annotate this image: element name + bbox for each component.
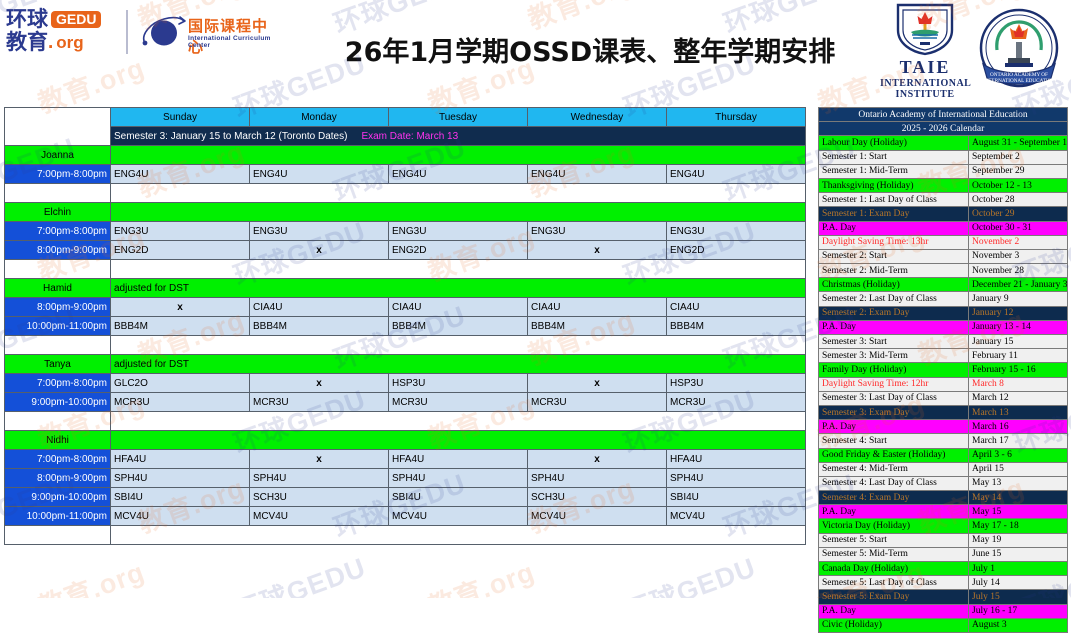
calendar-event-name: Daylight Saving Time: 12hr [819,377,969,391]
calendar-title: Ontario Academy of International Educati… [819,108,1068,122]
teacher-note-tanya: adjusted for DST [111,355,806,374]
calendar-event-date: May 17 - 18 [969,519,1068,533]
teacher-name-hamid: Hamid [5,279,111,298]
calendar-row: Semester 4: StartMarch 17 [819,434,1068,448]
calendar-event-name: Semester 4: Exam Day [819,491,969,505]
time-slot-label: 8:00pm-9:00pm [5,298,111,317]
calendar-event-name: Semester 4: Start [819,434,969,448]
calendar-event-name: Christmas (Holiday) [819,278,969,292]
calendar-row: Semester 4: Exam DayMay 14 [819,491,1068,505]
calendar-event-name: Semester 1: Last Day of Class [819,193,969,207]
time-slot-label: 7:00pm-8:00pm [5,374,111,393]
logo-divider [126,10,128,54]
calendar-row: P.A. DayOctober 30 - 31 [819,221,1068,235]
calendar-event-date: July 1 [969,562,1068,576]
taie-crest: TAIE INTERNATIONAL INSTITUTE [880,2,970,94]
course-cell[interactable]: SBI4U [667,488,806,507]
calendar-event-date: July 16 - 17 [969,604,1068,618]
taie-line2: INTERNATIONAL [880,78,970,89]
class-row: 7:00pm-8:00pmGLC2OxHSP3UxHSP3U [5,374,806,393]
course-cell[interactable]: GLC2O [111,374,250,393]
class-row: 8:00pm-9:00pmxCIA4UCIA4UCIA4UCIA4U [5,298,806,317]
calendar-row: Semester 2: Last Day of ClassJanuary 9 [819,292,1068,306]
calendar-row: Semester 5: Mid-TermJune 15 [819,547,1068,561]
calendar-event-date: January 9 [969,292,1068,306]
calendar-row: Daylight Saving Time: 13hrNovember 2 [819,235,1068,249]
teacher-row-joanna: Joanna [5,146,806,165]
calendar-row: Semester 4: Mid-TermApril 15 [819,462,1068,476]
calendar-event-date: November 2 [969,235,1068,249]
schedule-header-row: SundayMondayTuesdayWednesdayThursday [5,108,806,127]
calendar-event-name: Canada Day (Holiday) [819,562,969,576]
course-cell[interactable]: ENG2D [389,241,528,260]
course-cell[interactable]: SPH4U [389,469,528,488]
course-cell[interactable]: ENG3U [250,222,389,241]
gedu-logo-badge: GEDU [51,11,101,28]
course-cell[interactable]: HFA4U [111,450,250,469]
calendar-event-name: Semester 1: Exam Day [819,207,969,221]
calendar-event-date: May 19 [969,533,1068,547]
calendar-row: Civic (Holiday)August 3 [819,618,1068,632]
calendar-event-name: Good Friday & Easter (Holiday) [819,448,969,462]
calendar-event-name: P.A. Day [819,505,969,519]
calendar-event-name: P.A. Day [819,221,969,235]
course-cell[interactable]: SPH4U [667,469,806,488]
spacer-cell [111,260,806,279]
calendar-event-date: October 29 [969,207,1068,221]
teacher-note-elchin [111,203,806,222]
calendar-event-name: P.A. Day [819,320,969,334]
calendar-row: Semester 1: StartSeptember 2 [819,150,1068,164]
no-class-cell[interactable]: x [528,374,667,393]
time-slot-label: 7:00pm-8:00pm [5,165,111,184]
teacher-name-nidhi: Nidhi [5,431,111,450]
gedu-logo-top-row: 环球 GEDU [6,8,118,31]
class-row: 10:00pm-11:00pmBBB4MBBB4MBBB4MBBB4MBBB4M [5,317,806,336]
section-spacer [5,412,806,431]
calendar-event-name: Semester 5: Exam Day [819,590,969,604]
spacer-cell [111,184,806,203]
calendar-event-date: January 15 [969,335,1068,349]
calendar-event-date: May 14 [969,491,1068,505]
course-cell[interactable]: SBI4U [111,488,250,507]
calendar-title-row: Ontario Academy of International Educati… [819,108,1068,122]
teacher-row-nidhi: Nidhi [5,431,806,450]
spacer-cell [5,526,111,545]
calendar-event-name: Semester 1: Start [819,150,969,164]
calendar-row: P.A. DayJuly 16 - 17 [819,604,1068,618]
calendar-event-name: Labour Day (Holiday) [819,136,969,150]
time-slot-label: 10:00pm-11:00pm [5,317,111,336]
course-cell[interactable]: MCV4U [389,507,528,526]
calendar-row: Semester 3: Mid-TermFebruary 11 [819,349,1068,363]
calendar-subtitle: 2025 - 2026 Calendar [819,122,1068,136]
course-cell[interactable]: SCH3U [250,488,389,507]
calendar-row: Thanksgiving (Holiday)October 12 - 13 [819,178,1068,192]
planet-icon [140,15,188,49]
spacer-cell [111,336,806,355]
spacer-cell [111,412,806,431]
course-cell[interactable]: BBB4M [111,317,250,336]
calendar-row: Semester 2: Exam DayJanuary 12 [819,306,1068,320]
spacer-cell [5,412,111,431]
course-cell[interactable]: SPH4U [111,469,250,488]
course-cell[interactable]: HFA4U [389,450,528,469]
no-class-cell[interactable]: x [250,241,389,260]
class-row: 7:00pm-8:00pmHFA4UxHFA4UxHFA4U [5,450,806,469]
calendar-event-name: Semester 5: Start [819,533,969,547]
calendar-event-date: May 15 [969,505,1068,519]
calendar-event-name: Daylight Saving Time: 13hr [819,235,969,249]
calendar-event-name: Semester 3: Mid-Term [819,349,969,363]
time-slot-label: 9:00pm-10:00pm [5,488,111,507]
section-spacer [5,336,806,355]
course-cell[interactable]: HSP3U [667,374,806,393]
calendar-subtitle-row: 2025 - 2026 Calendar [819,122,1068,136]
calendar-row: Semester 3: Last Day of ClassMarch 12 [819,391,1068,405]
time-slot-label: 9:00pm-10:00pm [5,393,111,412]
calendar-event-date: August 31 - September 1 [969,136,1068,150]
calendar-event-name: Thanksgiving (Holiday) [819,178,969,192]
watermark-text: 教育.org [32,550,150,598]
course-cell[interactable]: MCR3U [528,393,667,412]
svg-text:INTERNATIONAL EDUCATION: INTERNATIONAL EDUCATION [983,78,1056,84]
course-cell[interactable]: HFA4U [667,450,806,469]
course-cell[interactable]: ENG2D [667,241,806,260]
semester-banner-main: Semester 3: January 15 to March 12 (Toro… [114,131,347,142]
calendar-event-name: Semester 2: Start [819,249,969,263]
gedu-logo-dot: . [48,32,53,54]
watermark-text: 环球GEDU [227,546,370,598]
calendar-event-name: Semester 4: Last Day of Class [819,476,969,490]
calendar-event-date: December 21 - January 3 [969,278,1068,292]
calendar-row: Semester 3: StartJanuary 15 [819,335,1068,349]
course-cell[interactable]: BBB4M [528,317,667,336]
calendar-event-date: September 29 [969,164,1068,178]
watermark-text: 教育.org [422,550,540,598]
page-title: 26年1月学期OSSD课表、整年学期安排 [330,30,850,69]
course-cell[interactable]: MCR3U [250,393,389,412]
day-header-thursday: Thursday [667,108,806,127]
course-cell[interactable]: ENG3U [667,222,806,241]
academic-calendar-table: Ontario Academy of International Educati… [818,107,1068,633]
course-cell[interactable]: SPH4U [250,469,389,488]
calendar-row: Good Friday & Easter (Holiday)April 3 - … [819,448,1068,462]
page-header: 环球 GEDU 教育 . org 国际课程中心 International Cu… [0,0,1071,100]
calendar-row: Semester 2: Mid-TermNovember 28 [819,264,1068,278]
semester-exam-date: Exam Date: March 13 [361,131,458,142]
day-header-tuesday: Tuesday [389,108,528,127]
calendar-event-date: November 3 [969,249,1068,263]
calendar-event-date: April 15 [969,462,1068,476]
calendar-event-name: Semester 3: Start [819,335,969,349]
course-cell[interactable]: MCR3U [111,393,250,412]
calendar-event-date: November 28 [969,264,1068,278]
calendar-event-name: Victoria Day (Holiday) [819,519,969,533]
calendar-event-date: March 17 [969,434,1068,448]
gedu-logo-cn-bottom: 教育 [6,31,48,54]
course-cell[interactable]: SBI4U [389,488,528,507]
no-class-cell[interactable]: x [250,374,389,393]
time-slot-label: 8:00pm-9:00pm [5,469,111,488]
course-cell[interactable]: CIA4U [667,298,806,317]
calendar-event-name: Semester 2: Exam Day [819,306,969,320]
calendar-event-date: March 12 [969,391,1068,405]
taie-shield-icon [894,2,956,56]
section-spacer [5,526,806,545]
course-cell[interactable]: MCR3U [667,393,806,412]
course-cell[interactable]: CIA4U [250,298,389,317]
no-class-cell[interactable]: x [250,450,389,469]
teacher-name-elchin: Elchin [5,203,111,222]
course-cell[interactable]: BBB4M [389,317,528,336]
calendar-event-date: October 30 - 31 [969,221,1068,235]
course-cell[interactable]: ENG3U [528,222,667,241]
calendar-row: Canada Day (Holiday)July 1 [819,562,1068,576]
calendar-event-name: Civic (Holiday) [819,618,969,632]
calendar-row: Semester 5: Last Day of ClassJuly 14 [819,576,1068,590]
calendar-row: Semester 1: Mid-TermSeptember 29 [819,164,1068,178]
calendar-event-date: July 15 [969,590,1068,604]
calendar-event-date: February 11 [969,349,1068,363]
course-cell[interactable]: ENG4U [389,165,528,184]
taie-name: TAIE [880,57,970,78]
teacher-row-tanya: Tanyaadjusted for DST [5,355,806,374]
no-class-cell[interactable]: x [111,298,250,317]
teacher-row-hamid: Hamidadjusted for DST [5,279,806,298]
calendar-event-name: Semester 4: Mid-Term [819,462,969,476]
course-cell[interactable]: HSP3U [389,374,528,393]
teacher-note-hamid: adjusted for DST [111,279,806,298]
schedule-table: SundayMondayTuesdayWednesdayThursdaySeme… [4,107,806,545]
calendar-event-date: January 12 [969,306,1068,320]
icc-logo: 国际课程中心 International Curriculum Center [140,12,280,56]
class-row: 9:00pm-10:00pmMCR3UMCR3UMCR3UMCR3UMCR3U [5,393,806,412]
class-row: 7:00pm-8:00pmENG3UENG3UENG3UENG3UENG3U [5,222,806,241]
taie-line3: INSTITUTE [880,89,970,100]
calendar-event-date: January 13 - 14 [969,320,1068,334]
course-cell[interactable]: MCV4U [250,507,389,526]
teacher-name-joanna: Joanna [5,146,111,165]
course-cell[interactable]: BBB4M [250,317,389,336]
section-spacer [5,260,806,279]
calendar-event-date: May 13 [969,476,1068,490]
calendar-row: Semester 5: StartMay 19 [819,533,1068,547]
course-cell[interactable]: SCH3U [528,488,667,507]
course-cell[interactable]: ENG4U [111,165,250,184]
spacer-cell [111,526,806,545]
time-slot-label: 7:00pm-8:00pm [5,450,111,469]
calendar-event-date: October 12 - 13 [969,178,1068,192]
course-cell[interactable]: ENG4U [528,165,667,184]
calendar-row: Semester 1: Last Day of ClassOctober 28 [819,193,1068,207]
calendar-row: Semester 3: Exam DayMarch 13 [819,405,1068,419]
no-class-cell[interactable]: x [528,241,667,260]
day-header-monday: Monday [250,108,389,127]
spacer-cell [5,184,111,203]
class-row: 7:00pm-8:00pmENG4UENG4UENG4UENG4UENG4U [5,165,806,184]
calendar-row: P.A. DayMay 15 [819,505,1068,519]
course-cell[interactable]: BBB4M [667,317,806,336]
day-header-wednesday: Wednesday [528,108,667,127]
spacer-cell [5,260,111,279]
course-cell[interactable]: ENG4U [667,165,806,184]
calendar-row: Semester 1: Exam DayOctober 29 [819,207,1068,221]
gedu-logo-bottom-row: 教育 . org [6,31,118,54]
course-cell[interactable]: MCV4U [111,507,250,526]
calendar-event-date: September 2 [969,150,1068,164]
time-slot-label: 7:00pm-8:00pm [5,222,111,241]
calendar-row: Semester 2: StartNovember 3 [819,249,1068,263]
course-cell[interactable]: CIA4U [528,298,667,317]
calendar-row: Christmas (Holiday)December 21 - January… [819,278,1068,292]
day-header-sunday: Sunday [111,108,250,127]
course-cell[interactable]: CIA4U [389,298,528,317]
course-cell[interactable]: MCR3U [389,393,528,412]
calendar-event-date: March 8 [969,377,1068,391]
teacher-note-nidhi [111,431,806,450]
time-slot-label: 8:00pm-9:00pm [5,241,111,260]
calendar-event-name: P.A. Day [819,604,969,618]
calendar-event-name: Semester 3: Last Day of Class [819,391,969,405]
course-cell[interactable]: MCV4U [528,507,667,526]
calendar-event-date: June 15 [969,547,1068,561]
calendar-row: P.A. DayMarch 16 [819,420,1068,434]
calendar-event-name: Semester 2: Mid-Term [819,264,969,278]
spacer-cell [5,336,111,355]
calendar-row: P.A. DayJanuary 13 - 14 [819,320,1068,334]
course-cell[interactable]: ENG3U [389,222,528,241]
semester-banner-row: Semester 3: January 15 to March 12 (Toro… [5,127,806,146]
calendar-event-name: Semester 5: Last Day of Class [819,576,969,590]
class-row: 10:00pm-11:00pmMCV4UMCV4UMCV4UMCV4UMCV4U [5,507,806,526]
calendar-event-date: August 3 [969,618,1068,632]
course-cell[interactable]: ENG3U [111,222,250,241]
calendar-event-date: March 16 [969,420,1068,434]
gedu-logo: 环球 GEDU 教育 . org [6,8,118,58]
calendar-event-name: P.A. Day [819,420,969,434]
class-row: 9:00pm-10:00pmSBI4USCH3USBI4USCH3USBI4U [5,488,806,507]
calendar-event-date: March 13 [969,405,1068,419]
gedu-logo-cn-top: 环球 [6,8,48,31]
calendar-event-name: Semester 3: Exam Day [819,405,969,419]
class-row: 8:00pm-9:00pmENG2DxENG2DxENG2D [5,241,806,260]
course-cell[interactable]: MCV4U [667,507,806,526]
calendar-row: Family Day (Holiday)February 15 - 16 [819,363,1068,377]
teacher-name-tanya: Tanya [5,355,111,374]
icc-logo-en: International Curriculum Center [188,35,280,49]
calendar-event-date: July 14 [969,576,1068,590]
course-cell[interactable]: ENG4U [250,165,389,184]
time-slot-label: 10:00pm-11:00pm [5,507,111,526]
calendar-row: Victoria Day (Holiday)May 17 - 18 [819,519,1068,533]
no-class-cell[interactable]: x [528,450,667,469]
calendar-event-name: Semester 2: Last Day of Class [819,292,969,306]
course-cell[interactable]: ENG2D [111,241,250,260]
calendar-event-name: Family Day (Holiday) [819,363,969,377]
teacher-note-joanna [111,146,806,165]
calendar-event-date: February 15 - 16 [969,363,1068,377]
calendar-event-date: April 3 - 6 [969,448,1068,462]
watermark-text: 环球GEDU [617,546,760,598]
course-cell[interactable]: SPH4U [528,469,667,488]
oaie-crest: ONTARIO ACADEMY OF INTERNATIONAL EDUCATI… [975,6,1063,94]
oaie-seal-icon: ONTARIO ACADEMY OF INTERNATIONAL EDUCATI… [975,6,1063,94]
gedu-logo-org: org [56,34,83,51]
calendar-event-date: October 28 [969,193,1068,207]
schedule-corner [5,108,111,146]
calendar-row: Semester 5: Exam DayJuly 15 [819,590,1068,604]
class-row: 8:00pm-9:00pmSPH4USPH4USPH4USPH4USPH4U [5,469,806,488]
calendar-row: Daylight Saving Time: 12hrMarch 8 [819,377,1068,391]
calendar-event-name: Semester 5: Mid-Term [819,547,969,561]
section-spacer [5,184,806,203]
calendar-event-name: Semester 1: Mid-Term [819,164,969,178]
calendar-row: Labour Day (Holiday)August 31 - Septembe… [819,136,1068,150]
semester-banner: Semester 3: January 15 to March 12 (Toro… [111,127,806,146]
teacher-row-elchin: Elchin [5,203,806,222]
calendar-row: Semester 4: Last Day of ClassMay 13 [819,476,1068,490]
